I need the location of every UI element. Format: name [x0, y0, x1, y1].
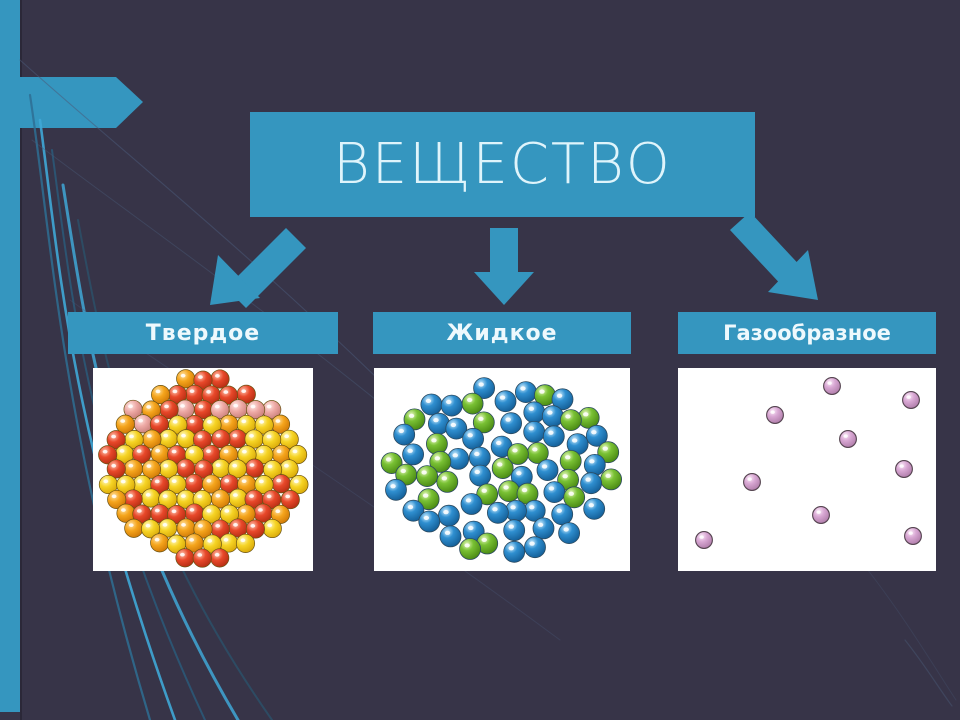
state-label-solid: Твердое [146, 321, 260, 346]
label-box-solid[interactable]: Твердое [68, 312, 338, 354]
arrow-to-liquid [474, 228, 534, 305]
illustration-panel-solid [93, 368, 313, 571]
arrow-to-gas [730, 212, 818, 300]
solid-particles-illustration [93, 368, 313, 571]
gas-particles-illustration [678, 368, 936, 571]
title-box: ВЕЩЕСТВО [250, 112, 755, 217]
left-vertical-bar [0, 0, 20, 712]
decorative-background [0, 0, 960, 720]
label-box-liquid[interactable]: Жидкое [373, 312, 631, 354]
illustration-panel-liquid [374, 368, 630, 571]
connector-arrows [0, 0, 960, 720]
page-title: ВЕЩЕСТВО [333, 137, 672, 193]
state-label-liquid: Жидкое [446, 321, 557, 346]
state-label-gas: Газообразное [723, 321, 891, 345]
illustration-panel-gas [678, 368, 936, 571]
liquid-particles-illustration [374, 368, 630, 571]
label-box-gas[interactable]: Газообразное [678, 312, 936, 354]
arrow-to-solid [210, 228, 306, 308]
slide-canvas: ВЕЩЕСТВО Твердое Жидкое Газообразное [0, 0, 960, 720]
left-arrow-banner [0, 77, 143, 128]
